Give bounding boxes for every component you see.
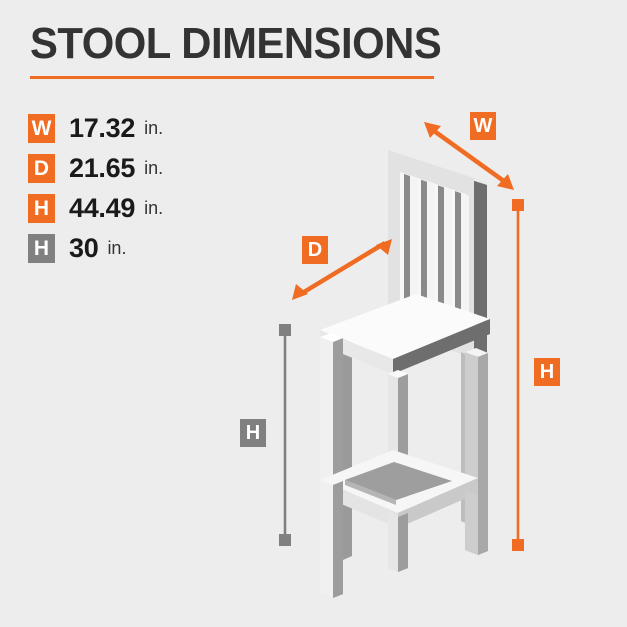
callout-badge-seat-height: H (240, 419, 266, 447)
callout-badge-width: W (470, 112, 496, 140)
callout-badge-depth: D (302, 236, 328, 264)
dimension-line-seat-height (279, 324, 291, 546)
stool-leg-front-right-overlay (465, 490, 488, 555)
stool-illustration (0, 0, 627, 627)
callout-badge-overall-height: H (534, 358, 560, 386)
stool-dimensions-infographic: STOOL DIMENSIONS W 17.32 in. D 21.65 in.… (0, 0, 627, 627)
stool-drawing (320, 150, 490, 598)
stool-leg-front-left-overlay (320, 480, 343, 598)
stool-leg-front-center-overlay (388, 513, 408, 572)
dimension-line-overall-height (512, 199, 524, 551)
